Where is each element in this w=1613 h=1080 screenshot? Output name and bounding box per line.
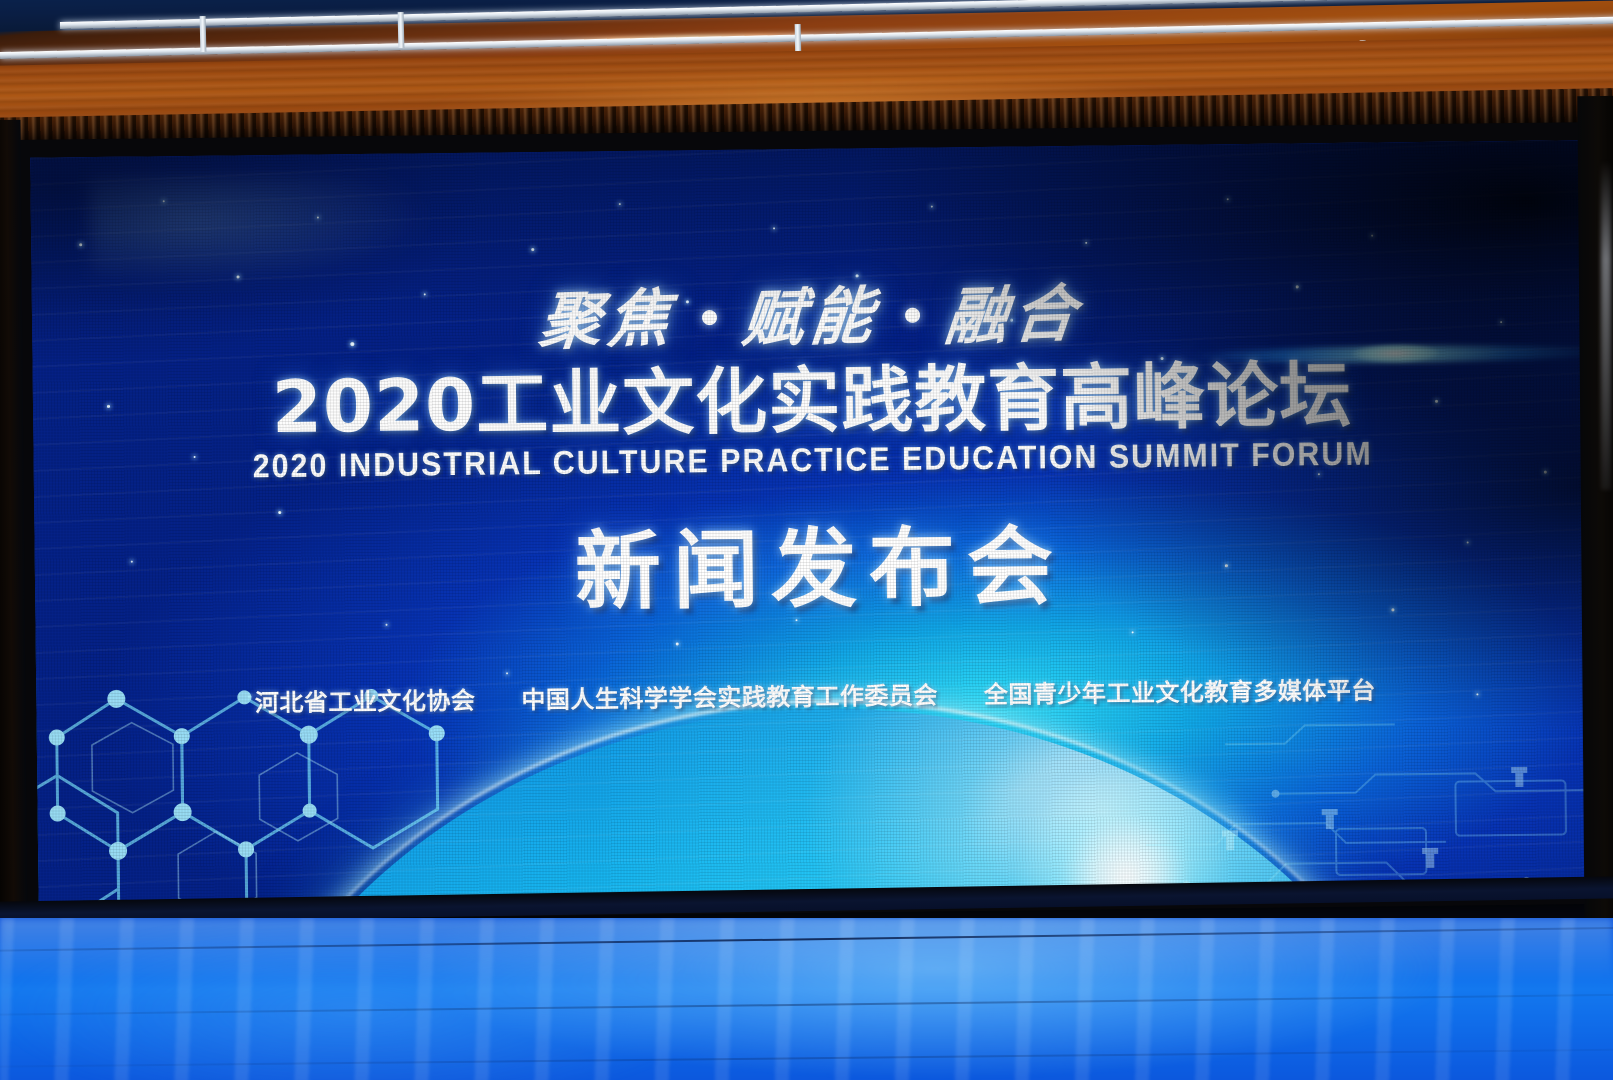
event-subtitle-press-conference: 新闻发布会 bbox=[34, 490, 1593, 633]
slogan-word-1: 聚焦 bbox=[536, 267, 681, 361]
stage-floor-sheen bbox=[0, 918, 1613, 1080]
conference-hall-scene: 聚焦 赋能 融合 2020工业文化实践教育高峰论坛 2020 INDUSTRIA… bbox=[0, 0, 1613, 1080]
right-wall-metal-glint bbox=[1601, 160, 1611, 490]
organizer-1: 河北省工业文化协会 bbox=[255, 681, 476, 718]
slogan-separator-dot-icon bbox=[702, 310, 717, 325]
organizer-2: 中国人生科学学会实践教育工作委员会 bbox=[521, 676, 938, 716]
slogan-word-3: 融合 bbox=[942, 263, 1087, 357]
screen-content: 聚焦 赋能 融合 2020工业文化实践教育高峰论坛 2020 INDUSTRIA… bbox=[30, 140, 1596, 908]
led-screen-panel: 聚焦 赋能 融合 2020工业文化实践教育高峰论坛 2020 INDUSTRIA… bbox=[30, 140, 1596, 908]
organizer-list: 河北省工业文化协会 中国人生科学学会实践教育工作委员会 全国青少年工业文化教育多… bbox=[36, 668, 1594, 721]
railing-post bbox=[398, 12, 405, 48]
organizer-3: 全国青少年工业文化教育多媒体平台 bbox=[984, 671, 1376, 710]
forum-title-chinese: 2020工业文化实践教育高峰论坛 bbox=[33, 356, 1592, 446]
led-screen-frame: 聚焦 赋能 融合 2020工业文化实践教育高峰论坛 2020 INDUSTRIA… bbox=[12, 122, 1609, 922]
slogan-word-2: 赋能 bbox=[739, 265, 884, 359]
slogan-separator-dot-icon bbox=[905, 307, 920, 322]
stage-floor bbox=[0, 918, 1613, 1080]
railing-post bbox=[200, 16, 207, 52]
calligraphy-slogan: 聚焦 赋能 融合 bbox=[32, 258, 1591, 366]
